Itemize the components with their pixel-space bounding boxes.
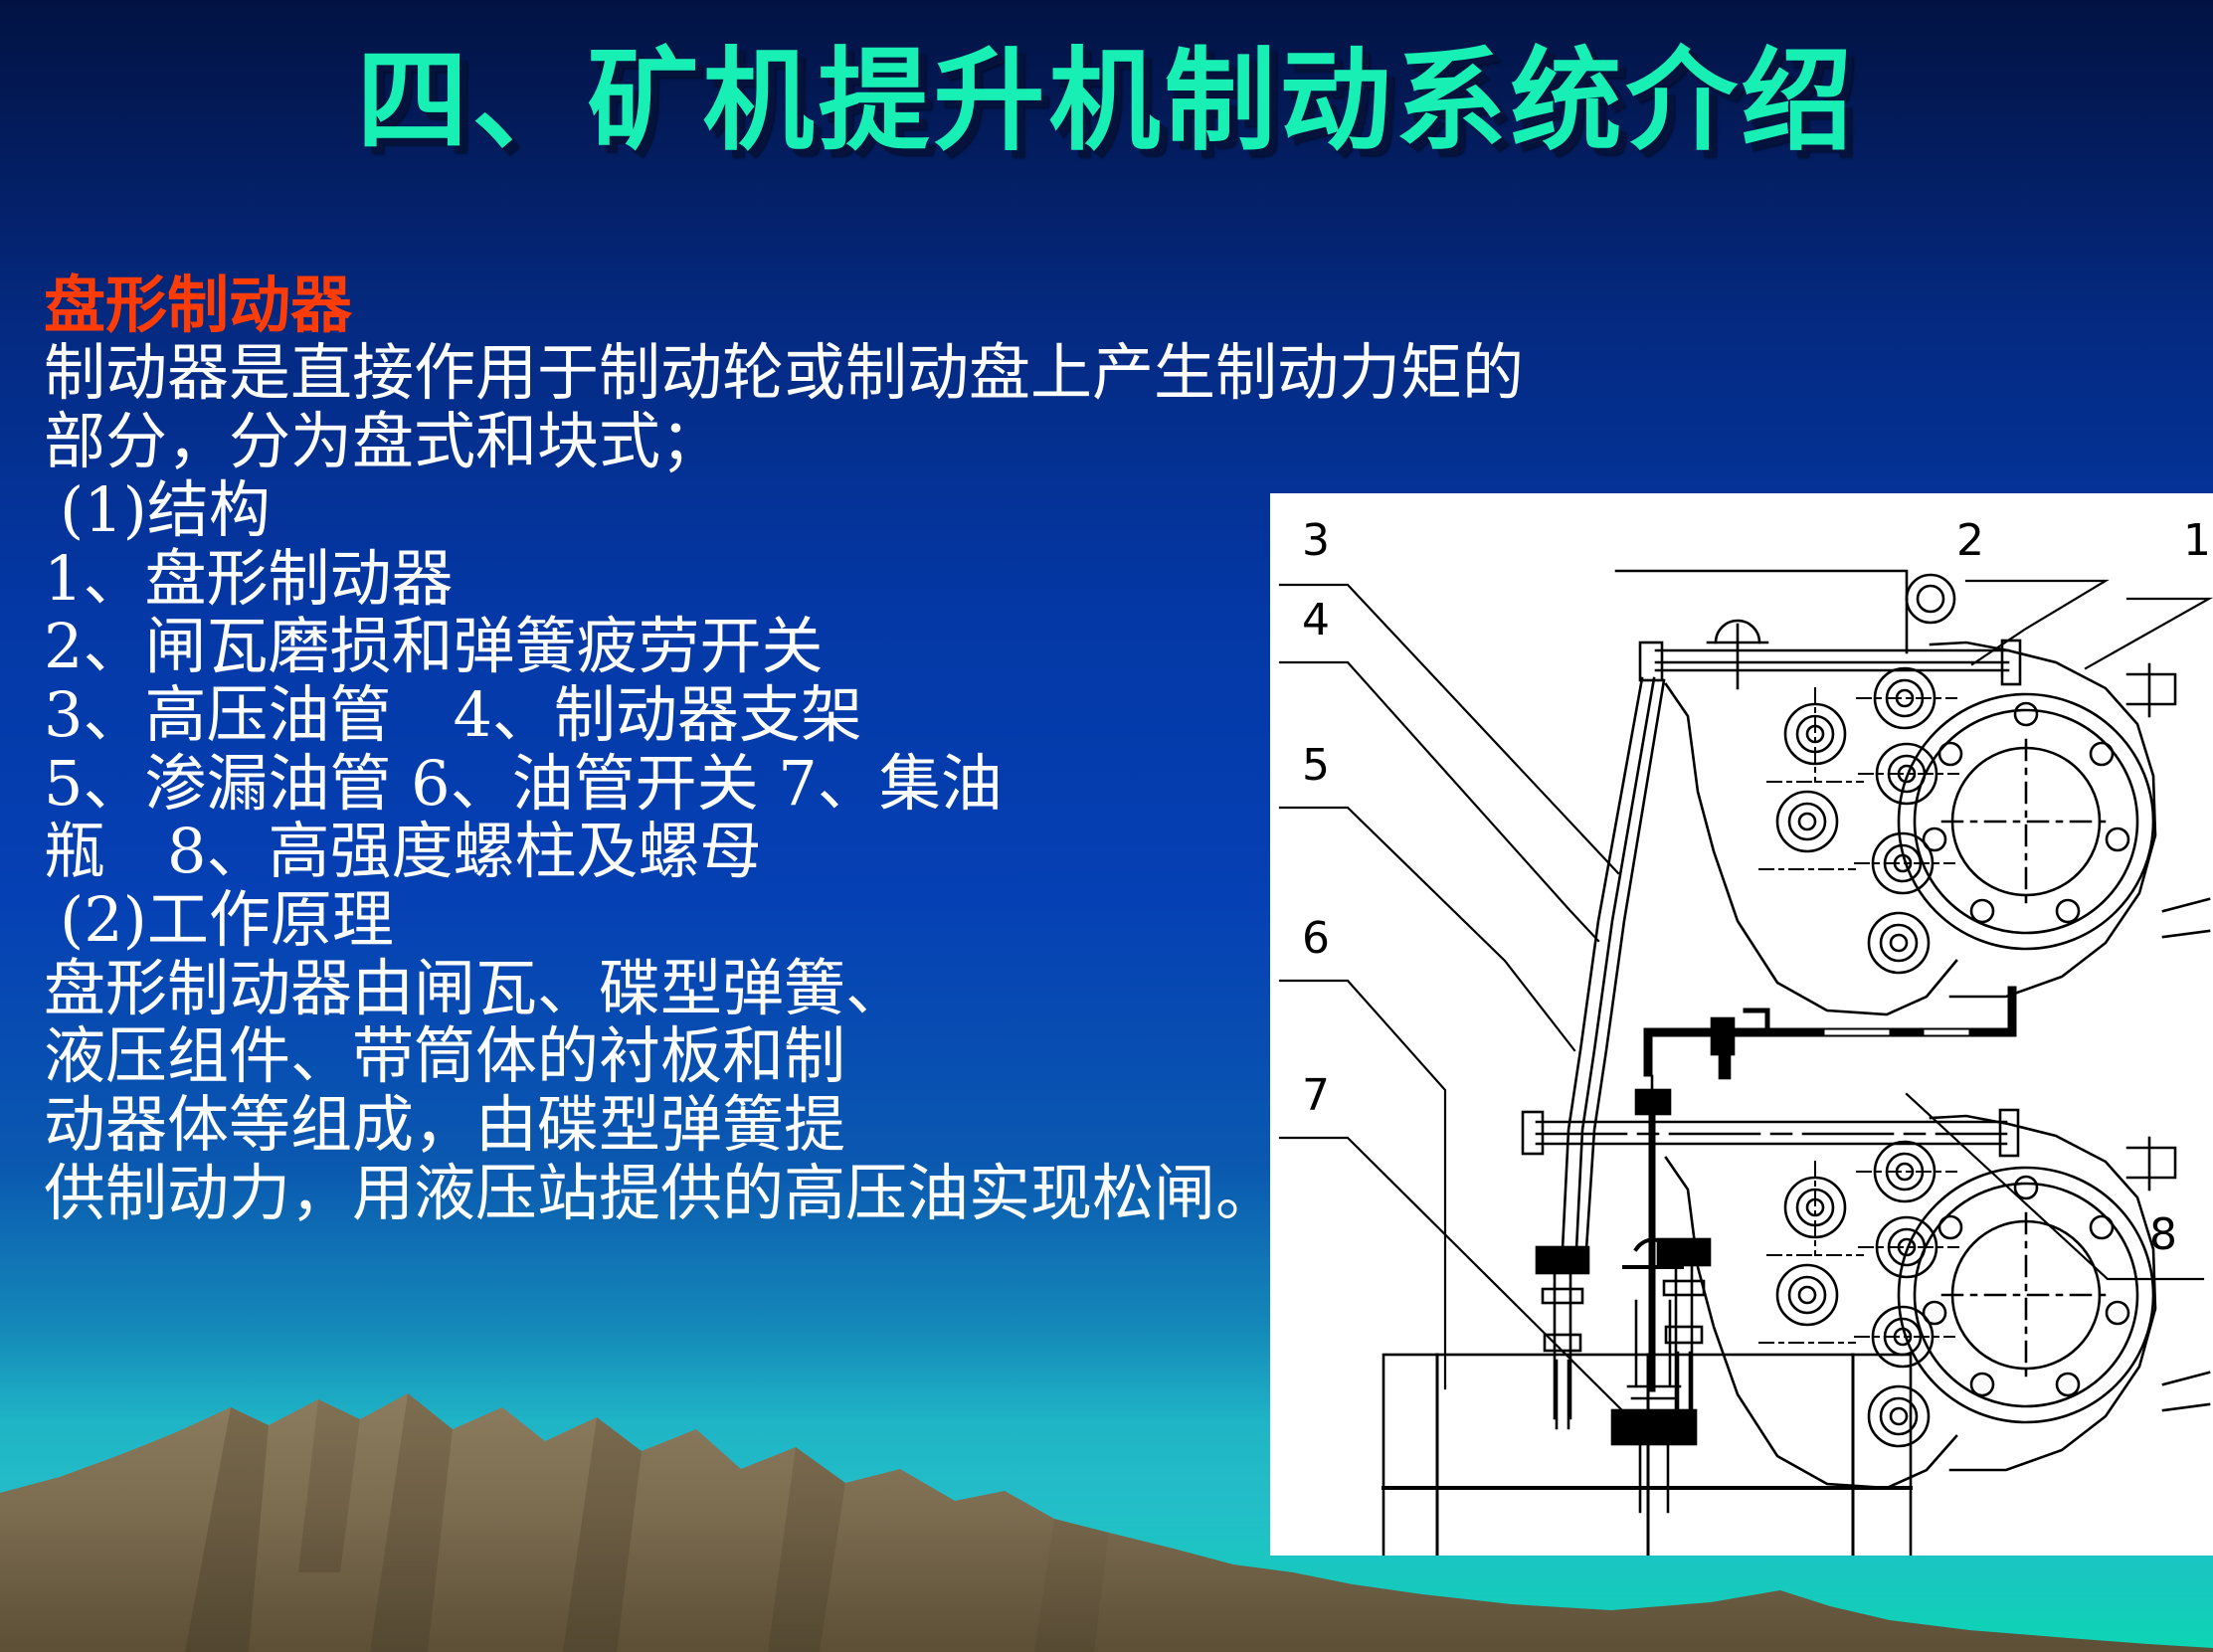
mounting-lugs-bottom (2127, 1138, 2209, 1410)
callout-4: 4 (1302, 595, 1330, 645)
body-line-2: 部分，分为盘式和块式； (44, 408, 2162, 476)
callout-numbers: 3 4 5 6 7 2 1 8 (1302, 515, 2211, 1260)
page-title: 四、矿机提升机制动系统介绍 (0, 36, 2213, 167)
upper-pipe-assembly (1616, 571, 2020, 688)
callout-2: 2 (1956, 515, 1984, 566)
mountain-facet-d (768, 1447, 845, 1652)
callout-5: 5 (1302, 740, 1330, 791)
mountain-facet-b (370, 1393, 453, 1652)
mountain-facet-a (185, 1407, 269, 1652)
spring-stack-bottom (1777, 1142, 1936, 1446)
callout-8: 8 (2149, 1209, 2177, 1260)
section-heading: 盘形制动器 (44, 271, 2162, 339)
brake-unit-top (1666, 575, 2209, 1014)
callout-3: 3 (1302, 515, 1330, 566)
oil-manifold-pipe (1648, 991, 2012, 1078)
presentation-slide: 四、矿机提升机制动系统介绍 盘形制动器 制动器是直接作用于制动轮或制动盘上产生制… (0, 0, 2213, 1652)
mountain-facet-e (298, 1399, 360, 1572)
mounting-lugs-top (2127, 664, 2209, 937)
brake-assembly-diagram: 3 4 5 6 7 2 1 8 (1270, 493, 2213, 1556)
diagram-drawing: 3 4 5 6 7 2 1 8 (1270, 493, 2213, 1556)
callout-1: 1 (2183, 515, 2211, 566)
manifold-tee (1746, 1010, 1767, 1030)
brake-unit-bottom (1666, 1116, 2209, 1488)
callout-6: 6 (1302, 913, 1330, 964)
callout-7: 7 (1302, 1070, 1330, 1121)
mountain-facet-f (1034, 1519, 1109, 1652)
mountain-facet-c (563, 1417, 642, 1652)
callout-leaders (1280, 581, 2209, 1426)
oil-collector-frame (1383, 1355, 1911, 1556)
body-line-1: 制动器是直接作用于制动轮或制动盘上产生制动力矩的 (44, 339, 2162, 408)
